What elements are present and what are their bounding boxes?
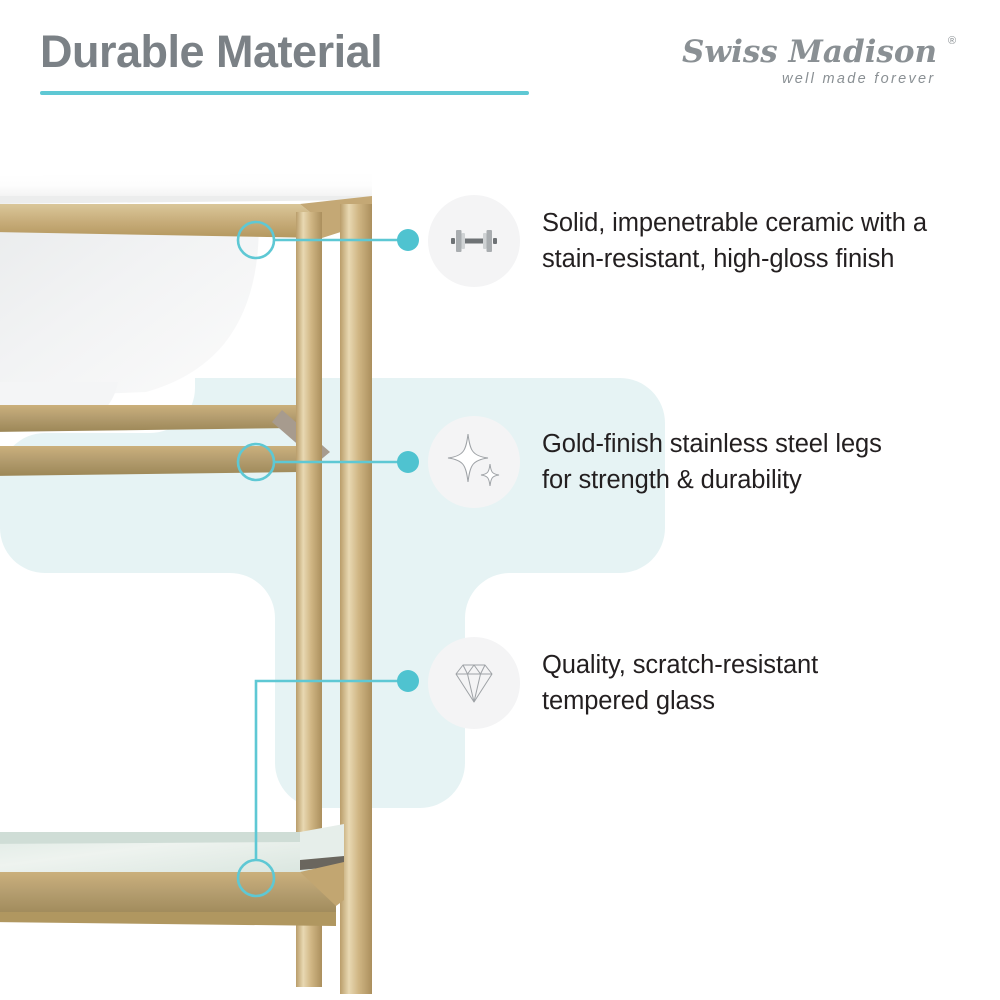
callout-ring-ceramic <box>238 222 274 258</box>
callout-ring-legs <box>238 444 274 480</box>
feature-row-glass: Quality, scratch-resistant tempered glas… <box>428 637 818 729</box>
callout-dot-ceramic <box>397 229 419 251</box>
feature-badge-legs <box>428 416 520 508</box>
sparkle-icon <box>442 430 506 494</box>
callout-ring-glass <box>238 860 274 896</box>
feature-text-glass: Quality, scratch-resistant tempered glas… <box>542 647 818 719</box>
feature-row-legs: Gold-finish stainless steel legs for str… <box>428 416 882 508</box>
feature-badge-glass <box>428 637 520 729</box>
diamond-icon <box>445 654 503 712</box>
dumbbell-icon <box>443 210 505 272</box>
feature-text-legs: Gold-finish stainless steel legs for str… <box>542 426 882 498</box>
feature-row-ceramic: Solid, impenetrable ceramic with a stain… <box>428 195 927 287</box>
feature-badge-ceramic <box>428 195 520 287</box>
feature-text-ceramic: Solid, impenetrable ceramic with a stain… <box>542 205 927 277</box>
callout-dot-legs <box>397 451 419 473</box>
callout-dot-glass <box>397 670 419 692</box>
infographic-canvas: Durable Material Swiss Madison ® well ma… <box>0 0 1000 1000</box>
